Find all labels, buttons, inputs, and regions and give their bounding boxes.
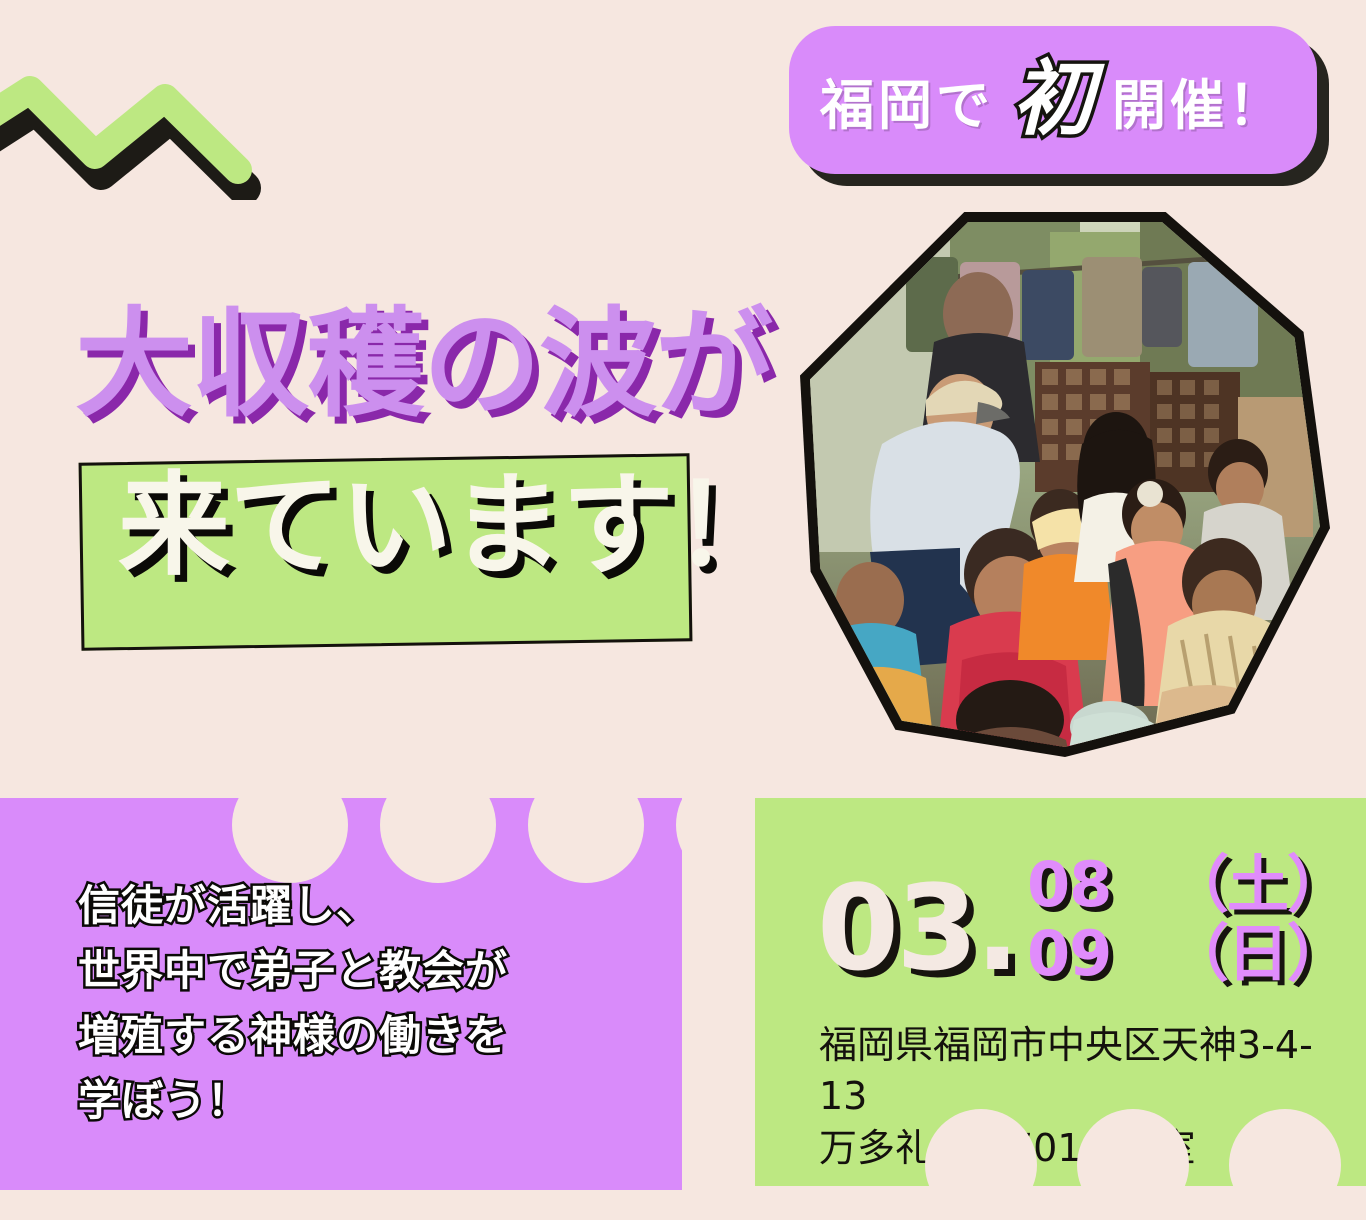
badge-prefix-label: 福岡で — [820, 61, 994, 140]
badge-highlight-label: 初 — [1012, 59, 1094, 141]
event-details-panel: 03. 08 （土） 09 （日） 福岡県福岡市中央区天神3-4-13 万多礼ビ… — [755, 798, 1366, 1186]
message-line-1: 信徒が活躍し、 — [78, 876, 658, 937]
event-address-line-1: 福岡県福岡市中央区天神3-4-13 — [819, 1020, 1359, 1123]
headline-line-1: 大収穫の波が — [75, 305, 771, 423]
event-month: 03. — [817, 872, 1017, 984]
scallop-bottom-decoration — [755, 1127, 1366, 1187]
event-day-row: 09 （日） — [1027, 919, 1347, 988]
message-panel: 信徒が活躍し、 世界中で弟子と教会が 増殖する神様の働きを 学ぼう！ — [0, 798, 682, 1190]
first-time-badge: 福岡で 初 開催！ — [789, 26, 1329, 186]
poster-root: 福岡で 初 開催！ 大収穫の波が 来ています！ — [0, 0, 1366, 1220]
event-day-of-week: （土） — [1167, 850, 1347, 919]
event-day-of-week: （日） — [1167, 919, 1347, 988]
badge-suffix-label: 開催！ — [1112, 61, 1286, 140]
badge-pill: 福岡で 初 開催！ — [789, 26, 1317, 174]
event-day-list: 08 （土） 09 （日） — [1027, 850, 1347, 989]
event-date: 03. 08 （土） 09 （日） — [817, 850, 1347, 989]
headline-line-2: 来ています！ — [118, 470, 784, 582]
event-photo — [800, 212, 1330, 757]
message-text: 信徒が活躍し、 世界中で弟子と教会が 増殖する神様の働きを 学ぼう！ — [78, 876, 658, 1136]
message-line-3: 増殖する神様の働きを — [78, 1006, 658, 1067]
event-day-number: 08 — [1027, 850, 1167, 919]
scallop-top-decoration — [0, 797, 682, 853]
message-line-2: 世界中で弟子と教会が — [78, 941, 658, 1002]
event-day-number: 09 — [1027, 919, 1167, 988]
zigzag-line-icon — [0, 60, 290, 200]
message-line-4: 学ぼう！ — [78, 1071, 658, 1132]
event-day-row: 08 （土） — [1027, 850, 1347, 919]
